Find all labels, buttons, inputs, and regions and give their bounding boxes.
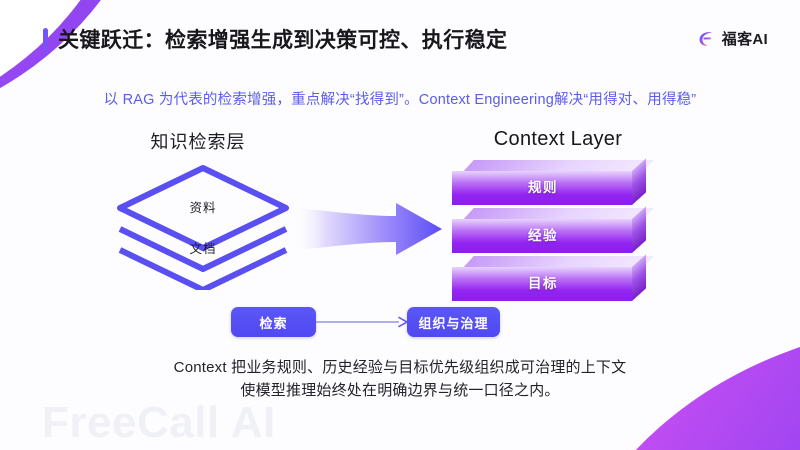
- flow-pill-retrieval[interactable]: 检索: [231, 307, 316, 337]
- slide-caption: Context 把业务规则、历史经验与目标优先级组织成可治理的上下文 使模型推理…: [0, 356, 800, 402]
- right-arrow-icon: [292, 196, 442, 262]
- context-slab-goal: 目标: [452, 256, 642, 302]
- knowledge-layer-label-2: 文档: [108, 238, 298, 257]
- caption-line-1: Context 把业务规则、历史经验与目标优先级组织成可治理的上下文: [0, 356, 800, 379]
- caption-line-2: 使模型推理始终处在明确边界与统一口径之内。: [0, 379, 800, 402]
- freecall-swoosh-icon: [696, 29, 716, 49]
- flow-connector: [316, 314, 408, 330]
- flow-pill-governance[interactable]: 组织与治理: [407, 307, 500, 337]
- knowledge-layer-label-1: 资料: [108, 197, 298, 216]
- context-layer-stack: 规则 经验 目标: [452, 160, 672, 310]
- page-title: 关键跃迁：检索增强生成到决策可控、执行稳定: [58, 24, 507, 54]
- brand-logo: 福客AI: [696, 28, 768, 49]
- context-layer-title: Context Layer: [443, 128, 673, 151]
- title-accent-bar: [43, 28, 48, 54]
- knowledge-layer-stack: 资料 文档: [108, 160, 298, 290]
- slide-canvas: FreeCall AI 关键跃迁：检索增强生成到决策可控、执行稳定 福客AI 以…: [0, 0, 800, 450]
- context-slab-label-1: 规则: [452, 176, 634, 196]
- context-slab-experience: 经验: [452, 208, 642, 254]
- context-slab-label-2: 经验: [452, 224, 634, 244]
- slide-header: 关键跃迁：检索增强生成到决策可控、执行稳定 福客AI: [0, 22, 800, 68]
- subtitle-text: 以 RAG 为代表的检索增强，重点解决“找得到”。Context Enginee…: [0, 88, 800, 109]
- knowledge-layer-title: 知识检索层: [78, 128, 318, 154]
- thin-right-arrow-icon: [316, 314, 408, 330]
- transition-arrow: [292, 196, 442, 262]
- stacked-layers-icon: [108, 160, 298, 290]
- watermark-text: FreeCall AI: [42, 398, 276, 448]
- context-slab-label-3: 目标: [452, 272, 634, 292]
- context-slab-rules: 规则: [452, 160, 642, 206]
- brand-name: 福客AI: [722, 28, 768, 49]
